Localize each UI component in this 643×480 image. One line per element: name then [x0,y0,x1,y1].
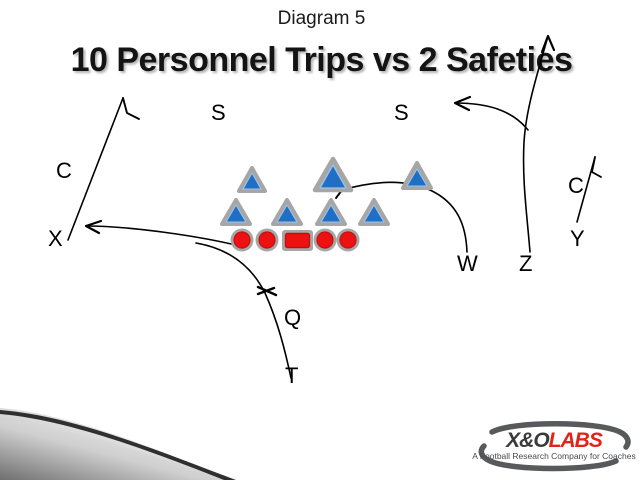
offense-right-guard [314,229,337,252]
defender-dl-3 [317,200,345,224]
offense-center [282,230,313,251]
route-z-vertical [524,36,554,252]
logo-wordmark: X&OLABS [470,429,638,453]
route-t-flare [196,243,291,378]
label-quarterback-q: Q [284,307,301,329]
label-receiver-z: Z [519,253,532,275]
label-safety-left: S [211,102,226,124]
defender-backer-mike [315,159,351,190]
defender-backer-mid [239,168,265,191]
corner-swoosh-decoration [0,408,236,480]
logo-tagline: A Football Research Company for Coaches [470,451,638,461]
offense-left-guard [256,229,279,252]
defender-dl-1 [222,200,250,224]
defender-dl-2 [273,200,301,224]
logo-text-labs: LABS [549,429,602,452]
play-diagram-slide: Diagram 5 10 Personnel Trips vs 2 Safeti… [0,0,643,480]
label-linebacker-w: W [457,253,478,275]
route-z-branch [455,97,528,130]
label-corner-right: C [568,175,584,197]
offense-left-tackle [231,229,254,252]
label-receiver-x: X [48,228,63,250]
defender-dl-4 [360,200,388,224]
defense-layer [222,159,431,224]
brand-logo: X&OLABS A Football Research Company for … [470,420,638,472]
defender-backer-will [403,163,431,188]
offense-right-tackle [337,229,360,252]
label-running-back-t: T [285,365,298,387]
label-receiver-y: Y [570,228,585,250]
label-safety-right: S [394,102,409,124]
logo-text-xo: X&O [506,429,549,452]
route-x-vertical [68,98,139,240]
offense-layer [231,229,360,252]
label-corner-left: C [56,160,72,182]
football-play-canvas [0,0,643,480]
